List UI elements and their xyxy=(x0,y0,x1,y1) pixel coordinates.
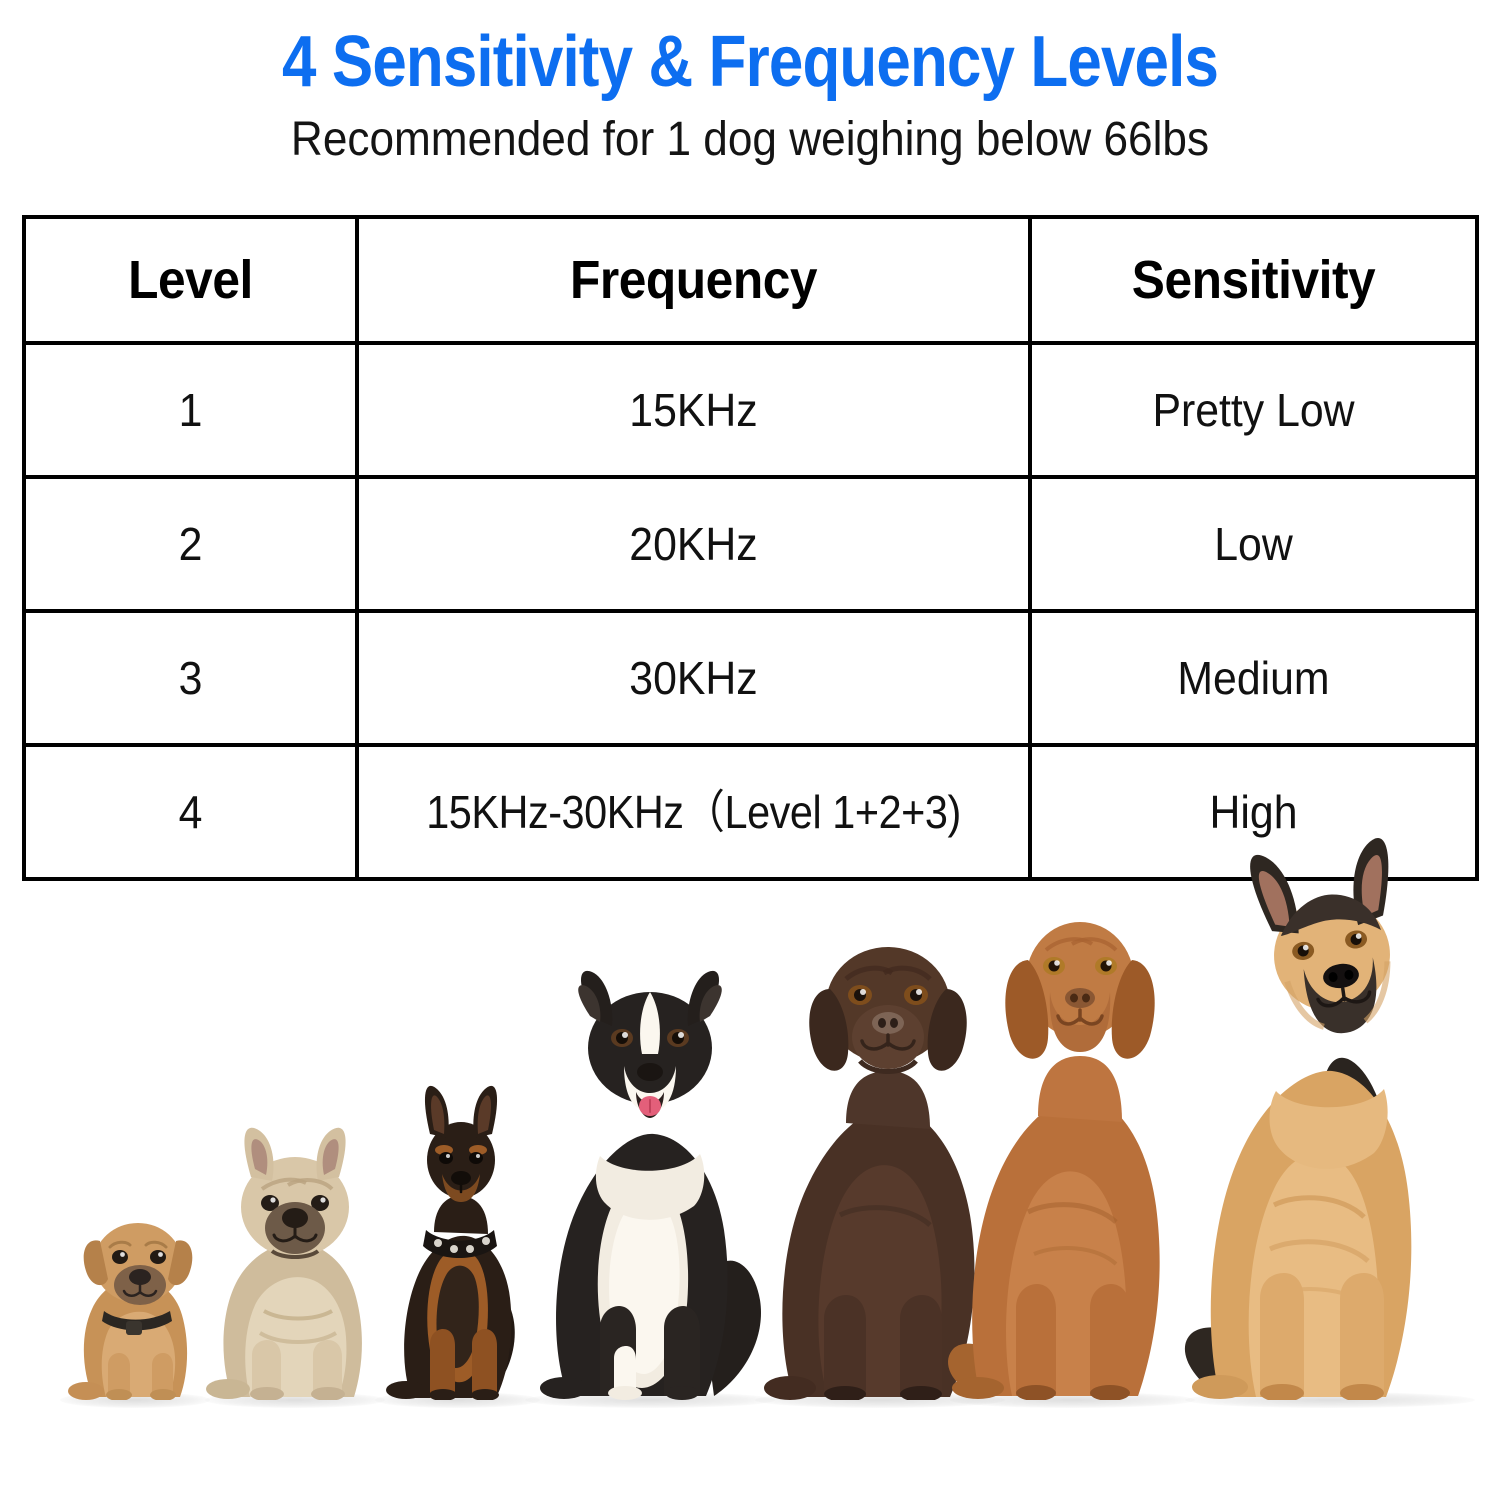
cell-level: 1 xyxy=(24,343,357,477)
column-header-level-label: Level xyxy=(39,251,342,309)
cell-frequency-value: 30KHz xyxy=(382,652,1004,704)
cell-sensitivity: Low xyxy=(1030,477,1477,611)
dog-puppy xyxy=(60,1185,210,1400)
page-subtitle: Recommended for 1 dog weighing below 66l… xyxy=(60,112,1440,168)
column-header-sensitivity-label: Sensitivity xyxy=(1050,251,1458,309)
cell-level-value: 2 xyxy=(38,518,344,570)
cell-sensitivity: Medium xyxy=(1030,611,1477,745)
table-row: 3 30KHz Medium xyxy=(24,611,1477,745)
infographic-page: 4 Sensitivity & Frequency Levels Recomme… xyxy=(0,0,1500,1500)
cell-frequency: 15KHz xyxy=(357,343,1030,477)
cell-sensitivity-value: Pretty Low xyxy=(1048,384,1460,436)
cell-level-value: 4 xyxy=(38,786,344,838)
cell-sensitivity-value: Low xyxy=(1048,518,1460,570)
dog-vizsla xyxy=(942,840,1207,1400)
cell-frequency: 30KHz xyxy=(357,611,1030,745)
heading-block: 4 Sensitivity & Frequency Levels Recomme… xyxy=(0,0,1500,200)
dog-german-shepherd xyxy=(1172,836,1472,1400)
cell-sensitivity: Pretty Low xyxy=(1030,343,1477,477)
cell-level: 3 xyxy=(24,611,357,745)
table-row: 2 20KHz Low xyxy=(24,477,1477,611)
table-row: 1 15KHz Pretty Low xyxy=(24,343,1477,477)
dog-size-lineup xyxy=(0,836,1500,1500)
sensitivity-frequency-table: Level Frequency Sensitivity 1 15KHz xyxy=(22,215,1479,881)
column-header-frequency-label: Frequency xyxy=(386,251,1001,309)
table-header-row: Level Frequency Sensitivity xyxy=(24,217,1477,343)
cell-frequency-value: 15KHz-30KHz（Level 1+2+3) xyxy=(392,786,994,838)
column-header-sensitivity: Sensitivity xyxy=(1030,217,1477,343)
cell-frequency-value: 20KHz xyxy=(382,518,1004,570)
cell-frequency: 20KHz xyxy=(357,477,1030,611)
cell-sensitivity-value: High xyxy=(1048,786,1460,838)
cell-level: 2 xyxy=(24,477,357,611)
cell-level-value: 1 xyxy=(38,384,344,436)
page-title: 4 Sensitivity & Frequency Levels xyxy=(105,22,1395,102)
cell-frequency-value: 15KHz xyxy=(382,384,1004,436)
dog-border-collie xyxy=(518,910,783,1400)
column-header-frequency: Frequency xyxy=(357,217,1030,343)
cell-sensitivity-value: Medium xyxy=(1048,652,1460,704)
column-header-level: Level xyxy=(24,217,357,343)
dog-french-bulldog xyxy=(198,1115,393,1400)
cell-level-value: 3 xyxy=(38,652,344,704)
